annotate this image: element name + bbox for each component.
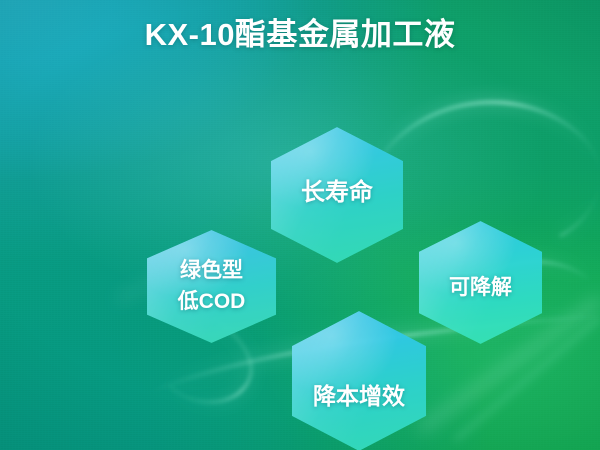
product-poster: KX-10酯基金属加工液 长寿命 绿色型 低COD 可降解 降本增效 — [0, 0, 600, 450]
hexagon-cost-efficiency: 降本增效 — [292, 311, 426, 450]
hexagon-label-green-low-cod: 绿色型 低COD — [178, 259, 246, 315]
hexagon-label-line: 降本增效 — [313, 383, 405, 410]
hexagon-label-line: 可降解 — [449, 276, 512, 301]
hexagon-gloss-cost-efficiency — [292, 311, 426, 450]
hexagon-label-longlife: 长寿命 — [301, 179, 373, 207]
hexagon-green-low-cod: 绿色型 低COD — [147, 230, 276, 343]
hexagon-label-line: 绿色型 — [178, 259, 246, 284]
page-title: KX-10酯基金属加工液 — [0, 16, 600, 55]
hexagon-label-cost-efficiency: 降本增效 — [313, 383, 405, 410]
hexagon-label-line: 低COD — [178, 290, 246, 315]
hexagon-degradable: 可降解 — [419, 221, 542, 344]
hexagon-label-degradable: 可降解 — [449, 276, 512, 301]
hexagon-longlife: 长寿命 — [271, 127, 403, 263]
hexagon-label-line: 长寿命 — [301, 179, 373, 207]
